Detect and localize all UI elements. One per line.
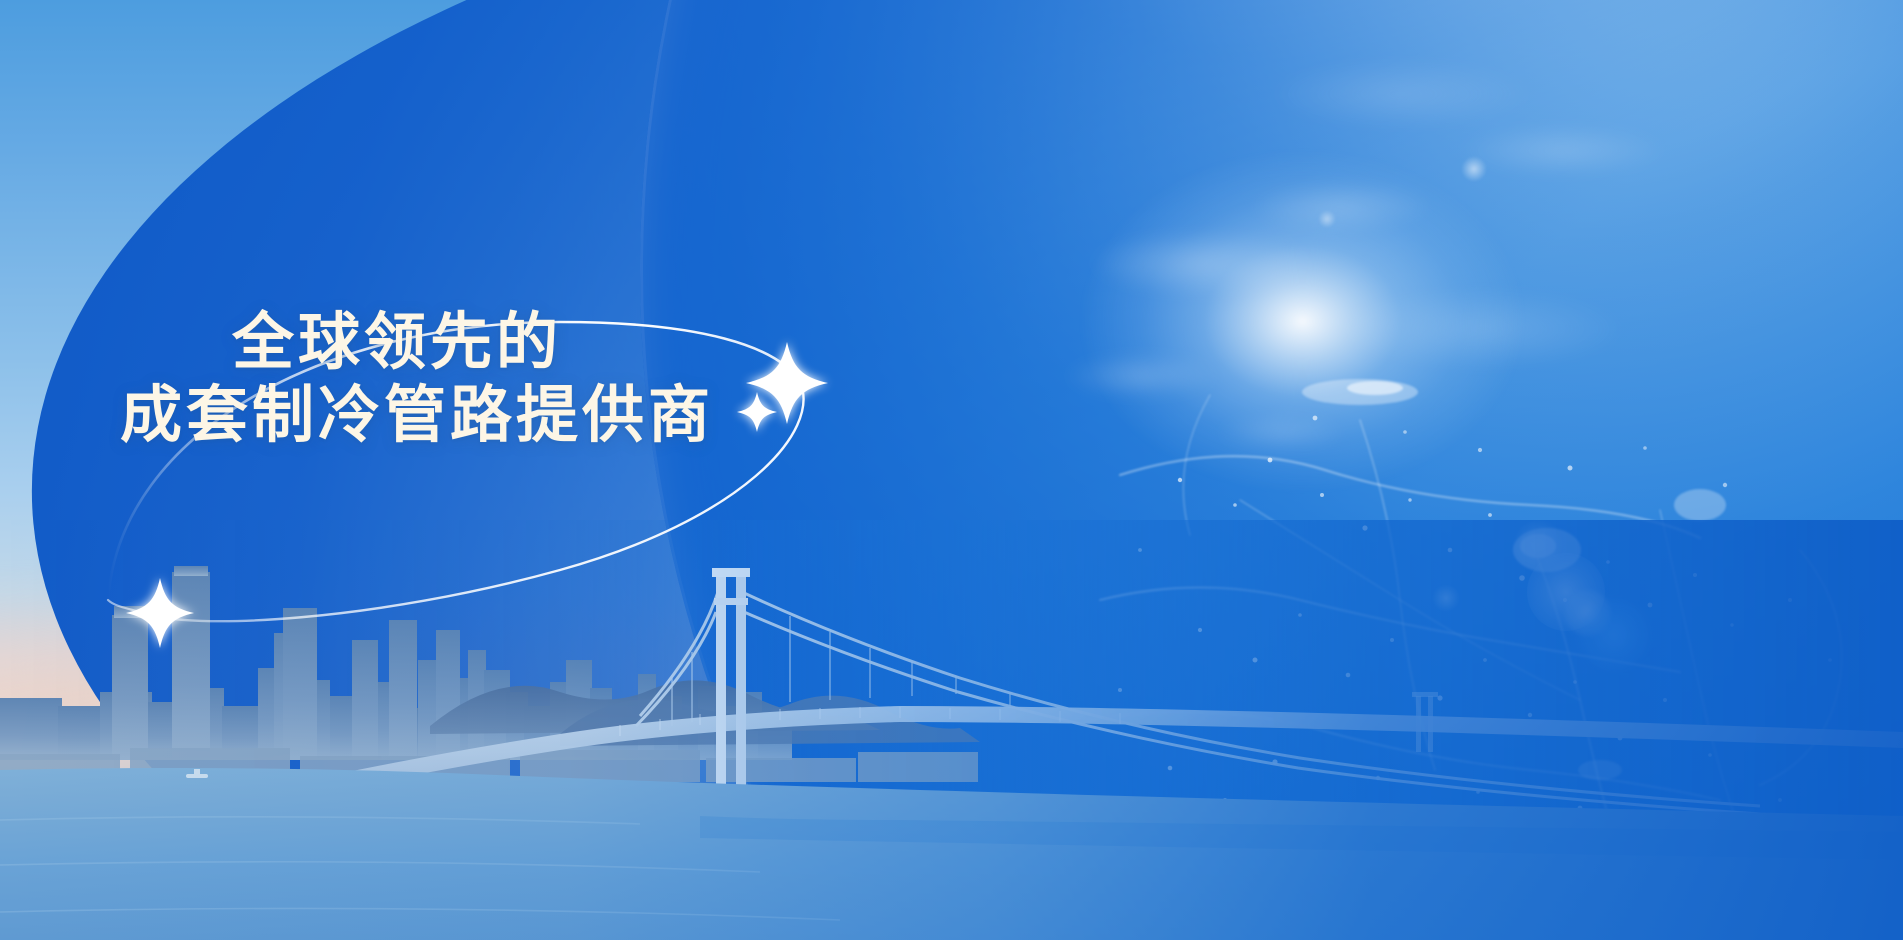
- globe-shadow-wash: [32, 0, 1903, 940]
- hero-banner: 全球领先的 成套制冷管路提供商: [0, 0, 1903, 940]
- headline-line-2: 成套制冷管路提供商: [120, 379, 880, 452]
- hero-headline: 全球领先的 成套制冷管路提供商: [120, 306, 880, 452]
- headline-line-1: 全球领先的: [232, 306, 880, 379]
